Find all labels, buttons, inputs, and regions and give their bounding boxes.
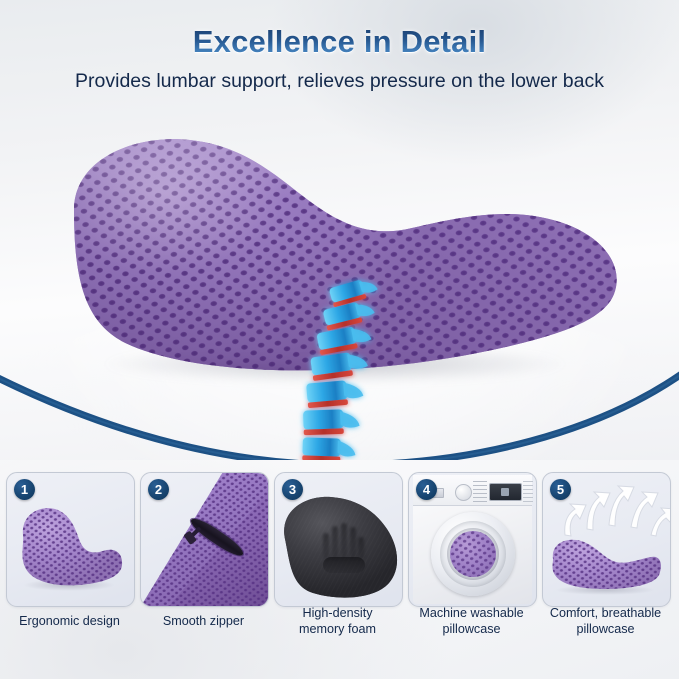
feature-caption-4: Machine washable pillowcase xyxy=(408,606,535,638)
badge-number-4: 4 xyxy=(416,479,437,500)
badge-number-3: 3 xyxy=(282,479,303,500)
handprint-impression xyxy=(321,521,367,573)
feature-card-4[interactable]: 4 xyxy=(408,472,537,607)
feature-card-3[interactable]: 3 xyxy=(274,472,403,607)
badge-number-1: 1 xyxy=(14,479,35,500)
feature-caption-5: Comfort, breathable pillowcase xyxy=(542,606,669,638)
mesh-texture xyxy=(450,531,496,577)
caption-line-2: pillowcase xyxy=(542,622,669,638)
mesh-texture xyxy=(17,501,125,587)
purple-pillow-image xyxy=(17,501,125,587)
caption-line-2: memory foam xyxy=(274,622,401,638)
caption-line-1: Comfort, breathable xyxy=(542,606,669,622)
caption-line-2: pillowcase xyxy=(408,622,535,638)
program-knob xyxy=(455,484,472,501)
title-container: Excellence in Detail xyxy=(0,26,679,59)
badge-number-2: 2 xyxy=(148,479,169,500)
feature-caption-3: High-density memory foam xyxy=(274,606,401,638)
feature-card-5[interactable]: 5 xyxy=(542,472,671,607)
page-title: Excellence in Detail xyxy=(193,26,486,59)
feature-caption-1: Ergonomic design xyxy=(6,614,133,630)
feature-cards: 1 Ergonomic design 2 Smooth zipper xyxy=(0,472,679,679)
door-glass xyxy=(447,528,499,580)
badge-number-5: 5 xyxy=(550,479,571,500)
black-memory-foam xyxy=(275,487,402,599)
panel-markings-left xyxy=(473,481,487,502)
section-divider xyxy=(0,370,679,460)
display-screen xyxy=(489,483,522,501)
caption-line-1: High-density xyxy=(274,606,401,622)
feature-caption-2: Smooth zipper xyxy=(140,614,267,630)
panel-markings-right xyxy=(523,481,533,502)
purple-pillowcase-inside xyxy=(450,531,496,577)
caption-line-1: Machine washable xyxy=(408,606,535,622)
page-subtitle: Provides lumbar support, relieves pressu… xyxy=(0,70,679,93)
hero-product-image xyxy=(40,118,640,408)
feature-card-2[interactable]: 2 xyxy=(140,472,269,607)
feature-card-1[interactable]: 1 xyxy=(6,472,135,607)
product-infographic: Excellence in Detail Provides lumbar sup… xyxy=(0,0,679,679)
